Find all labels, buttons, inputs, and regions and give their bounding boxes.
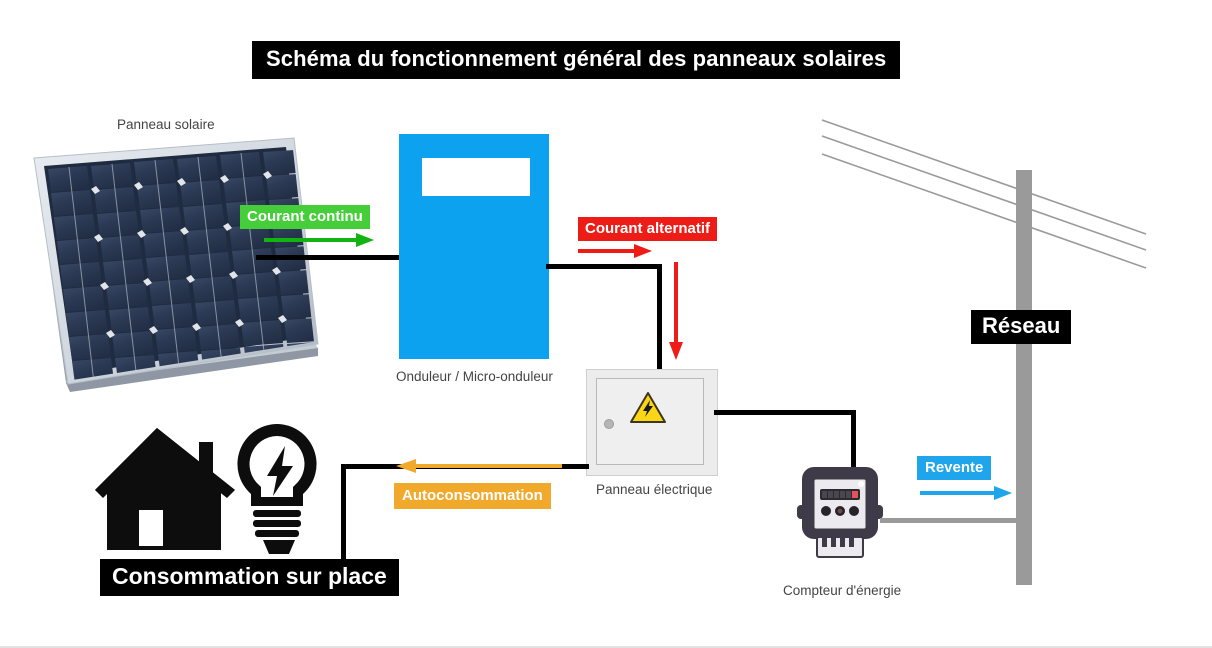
local-consumption-label: Consommation sur place <box>100 559 399 596</box>
house-icon <box>95 428 235 550</box>
electrical-panel-knob <box>604 419 614 429</box>
resale-label: Revente <box>917 456 991 480</box>
utility-pole-icon <box>1016 170 1032 585</box>
grid-label: Réseau <box>971 310 1071 344</box>
electric-hazard-triangle-icon <box>630 391 666 424</box>
wire-meter-to-grid <box>880 518 1025 523</box>
inverter-caption: Onduleur / Micro-onduleur <box>396 369 553 384</box>
diagram-title: Schéma du fonctionnement général des pan… <box>252 41 900 79</box>
inverter-display <box>422 158 530 196</box>
ac-label: Courant alternatif <box>578 217 717 241</box>
solar-panel-icon <box>22 136 322 398</box>
dc-arrow-icon <box>264 232 374 253</box>
light-bulb-icon <box>219 424 317 559</box>
resale-arrow-icon <box>920 485 1012 506</box>
diagram-canvas: Schéma du fonctionnement général des pan… <box>0 0 1212 648</box>
ac-arrow-down-icon <box>668 262 684 365</box>
self-consumption-label: Autoconsommation <box>394 483 551 509</box>
consumption-icons <box>95 420 335 575</box>
wire-ac-down-to-panel <box>657 264 662 372</box>
dc-label: Courant continu <box>240 205 370 229</box>
wire-panel-to-meter-horizontal <box>714 410 856 415</box>
wire-panel-to-meter-down <box>851 410 856 470</box>
self-consumption-arrow-icon <box>396 458 562 479</box>
solar-panel-caption: Panneau solaire <box>117 117 215 132</box>
meter-caption: Compteur d'énergie <box>783 583 901 598</box>
ac-arrow-right-icon <box>578 243 652 264</box>
wire-ac-inverter-horizontal <box>546 264 662 269</box>
energy-meter-icon <box>797 465 883 561</box>
electrical-panel-caption: Panneau électrique <box>596 482 712 497</box>
wire-dc-panel-to-inverter <box>256 255 401 260</box>
